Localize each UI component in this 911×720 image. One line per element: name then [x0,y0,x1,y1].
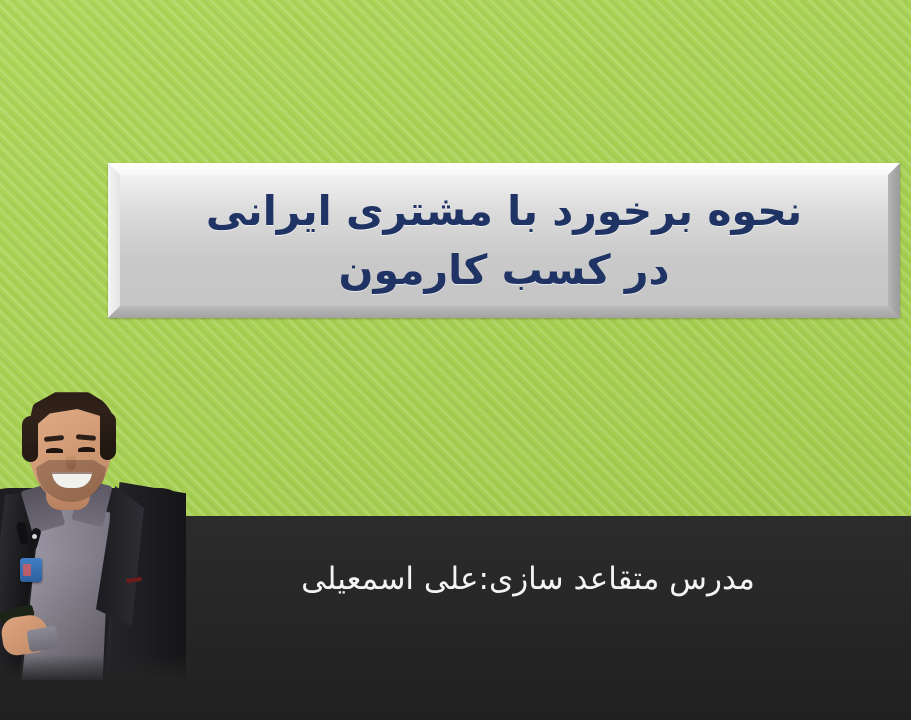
photo-hair-right [100,412,116,460]
plate-bevel-bottom [108,306,900,318]
title-line-1: نحوه برخورد با مشتری ایرانی [206,182,802,240]
photo-eye-right [78,447,95,452]
photo-eye-left [46,448,63,453]
presentation-slide: نحوه برخورد با مشتری ایرانی در کسب کارمو… [0,0,911,720]
photo-badge-detail [23,564,31,576]
photo-mic-indicator [32,534,37,539]
title-line-2: در کسب کارمون [338,241,669,299]
photo-nose [66,454,76,470]
plate-bevel-right [888,163,900,318]
presenter-credit-subtitle: مدرس متقاعد سازی:علی اسمعیلی [178,560,878,599]
slide-title: نحوه برخورد با مشتری ایرانی در کسب کارمو… [122,175,886,306]
photo-hair-left [22,416,38,462]
plate-bevel-left [108,163,120,318]
title-plate: نحوه برخورد با مشتری ایرانی در کسب کارمو… [108,163,900,318]
presenter-photo [0,382,186,680]
photo-bottom-fade [0,654,186,680]
plate-bevel-top [108,163,900,175]
